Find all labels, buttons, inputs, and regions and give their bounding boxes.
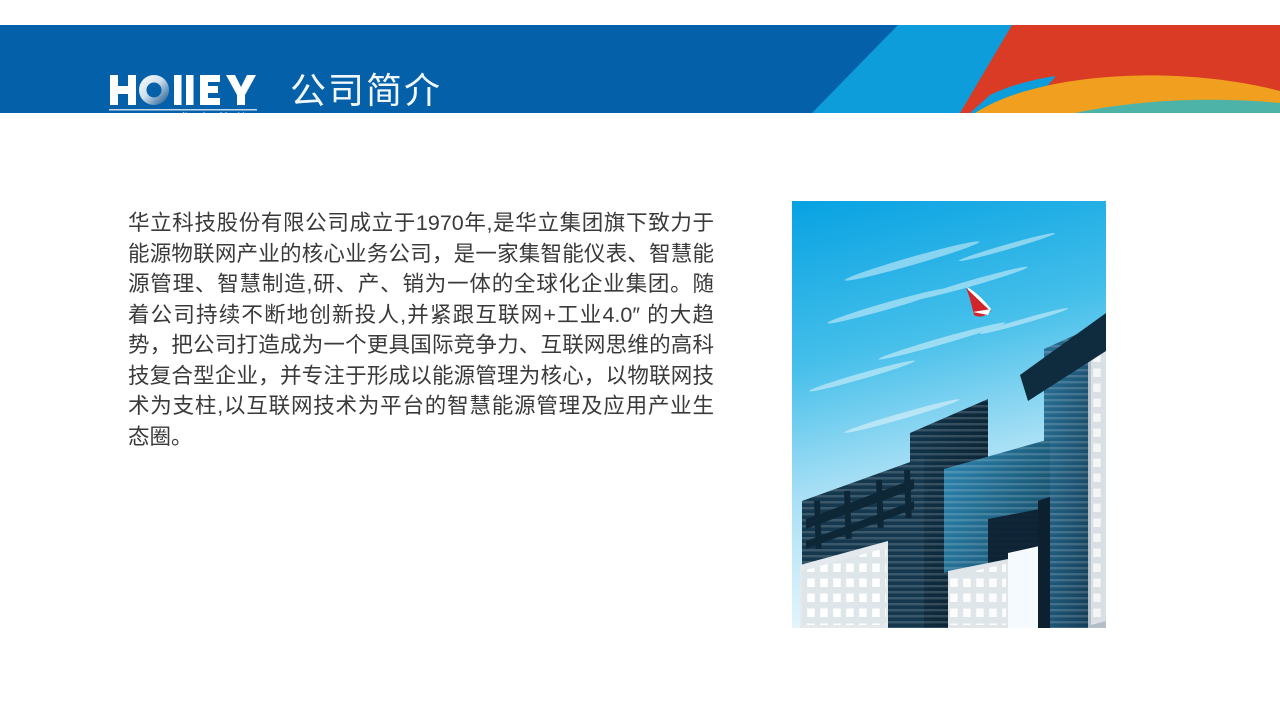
building-photo	[792, 201, 1106, 628]
company-intro-paragraph: 华立科技股份有限公司成立于1970年,是华立集团旗下致力于能源物联网产业的核心业…	[128, 208, 714, 452]
building-photo-graphic	[792, 201, 1106, 628]
logo-subtitle-en: T E C H	[110, 112, 177, 113]
header-banner: T E C H 华 立 科 技 公司简介	[0, 25, 1280, 113]
holley-logo-mark: T E C H 华 立 科 技	[108, 71, 268, 113]
logo-subtitle-cn: 华 立 科 技	[180, 111, 250, 113]
company-logo: T E C H 华 立 科 技	[108, 71, 268, 113]
page-title: 公司简介	[290, 69, 442, 113]
